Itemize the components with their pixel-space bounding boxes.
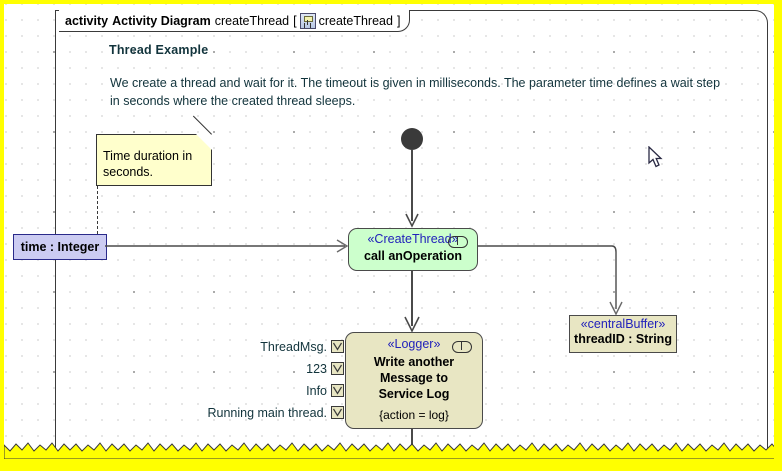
documentation-title: Thread Example [109,43,208,57]
action-name: call anOperation [349,249,477,263]
activity-diagram-icon [300,13,316,29]
activity-frame-header[interactable]: activity Activity Diagram createThread [… [59,10,410,32]
action-name-line: Message to [346,370,482,386]
frame-context-name: createThread [319,14,393,28]
call-operation-icon [448,236,468,248]
action-constraint: {action = log} [346,408,482,422]
input-pin-label: 123 [144,362,327,376]
note-text: Time duration in seconds. [103,148,212,180]
input-pin-icon [332,341,343,352]
diagram-page[interactable]: activity Activity Diagram createThread [… [4,4,774,459]
input-pin-label: Running main thread. [124,406,327,420]
diagram-canvas[interactable]: activity Activity Diagram createThread [… [0,0,782,471]
action-create-thread[interactable]: «CreateThread» call anOperation [348,228,478,271]
comment-note[interactable]: Time duration in seconds. [96,134,212,186]
input-pin-icon [332,407,343,418]
central-buffer-name: threadID : String [570,332,676,346]
documentation-body: We create a thread and wait for it. The … [110,74,728,110]
input-pin-label: Info [144,384,327,398]
parameter-node-label: time : Integer [21,240,100,254]
call-operation-icon [452,341,472,353]
action-name-line: Service Log [346,386,482,402]
frame-bracket-open: [ [293,14,296,28]
torn-paper-edge [4,439,774,459]
frame-bracket-close: ] [397,14,400,28]
note-anchor-line [97,186,98,234]
activity-parameter-node-time[interactable]: time : Integer [13,234,107,260]
central-buffer-stereotype: «centralBuffer» [570,317,676,331]
mouse-pointer [648,146,664,168]
initial-node[interactable] [401,128,423,150]
input-pin[interactable] [331,340,344,353]
frame-name: createThread [215,14,289,28]
input-pin-icon [332,363,343,374]
input-pin-label: ThreadMsg. [144,340,327,354]
action-name: Write another Message to Service Log [346,354,482,402]
input-pin[interactable] [331,406,344,419]
action-name-line: Write another [346,354,482,370]
frame-type-label: Activity Diagram [112,14,211,28]
input-pin[interactable] [331,384,344,397]
input-pin-icon [332,385,343,396]
input-pin[interactable] [331,362,344,375]
frame-keyword: activity [65,14,108,28]
central-buffer-node[interactable]: «centralBuffer» threadID : String [569,315,677,353]
action-logger[interactable]: «Logger» Write another Message to Servic… [345,332,483,429]
